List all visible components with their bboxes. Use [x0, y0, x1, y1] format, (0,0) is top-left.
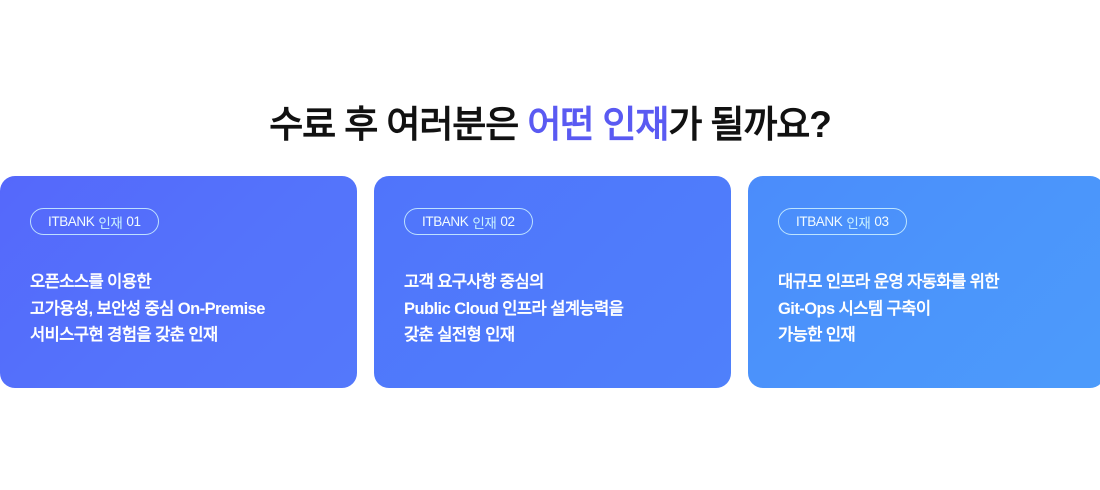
page-title-part1: 수료 후 여러분은: [269, 104, 527, 145]
talent-card-03[interactable]: ITBANK인재03 대규모 인프라 운영 자동화를 위한 Git-Ops 시스…: [748, 176, 1100, 388]
page-title: 수료 후 여러분은 어떤 인재가 될까요?: [0, 102, 1100, 148]
badge-role-label: 인재: [468, 212, 496, 232]
badge-number-label: 03: [870, 214, 888, 229]
status-badge: ITBANK인재03: [778, 208, 907, 235]
talent-card-body: 대규모 인프라 운영 자동화를 위한 Git-Ops 시스템 구축이 가능한 인…: [778, 269, 1100, 349]
talent-card-body: 오픈소스를 이용한 고가용성, 보안성 중심 On-Premise 서비스구현 …: [30, 269, 357, 349]
talent-card-01[interactable]: ITBANK인재01 오픈소스를 이용한 고가용성, 보안성 중심 On-Pre…: [0, 176, 357, 388]
badge-brand-label: ITBANK: [422, 214, 468, 229]
talent-card-body: 고객 요구사항 중심의 Public Cloud 인프라 설계능력을 갖춘 실전…: [404, 269, 731, 349]
talent-card-list: ITBANK인재01 오픈소스를 이용한 고가용성, 보안성 중심 On-Pre…: [0, 176, 1100, 388]
card-body-line: 고객 요구사항 중심의: [404, 269, 731, 296]
page-title-accent: 어떤 인재: [527, 104, 668, 145]
card-body-line: 고가용성, 보안성 중심 On-Premise: [30, 296, 357, 323]
status-badge: ITBANK인재01: [30, 208, 159, 235]
card-body-line: Git-Ops 시스템 구축이: [778, 296, 1100, 323]
page-title-part2: 가 될까요?: [668, 104, 830, 145]
card-body-line: 가능한 인재: [778, 322, 1100, 349]
badge-role-label: 인재: [94, 212, 122, 232]
card-body-line: Public Cloud 인프라 설계능력을: [404, 296, 731, 323]
card-body-line: 갖춘 실전형 인재: [404, 322, 731, 349]
talent-card-02[interactable]: ITBANK인재02 고객 요구사항 중심의 Public Cloud 인프라 …: [374, 176, 731, 388]
card-body-line: 대규모 인프라 운영 자동화를 위한: [778, 269, 1100, 296]
badge-brand-label: ITBANK: [796, 214, 842, 229]
badge-number-label: 01: [122, 214, 140, 229]
card-body-line: 오픈소스를 이용한: [30, 269, 357, 296]
status-badge: ITBANK인재02: [404, 208, 533, 235]
badge-role-label: 인재: [842, 212, 870, 232]
badge-number-label: 02: [496, 214, 514, 229]
badge-brand-label: ITBANK: [48, 214, 94, 229]
card-body-line: 서비스구현 경험을 갖춘 인재: [30, 322, 357, 349]
